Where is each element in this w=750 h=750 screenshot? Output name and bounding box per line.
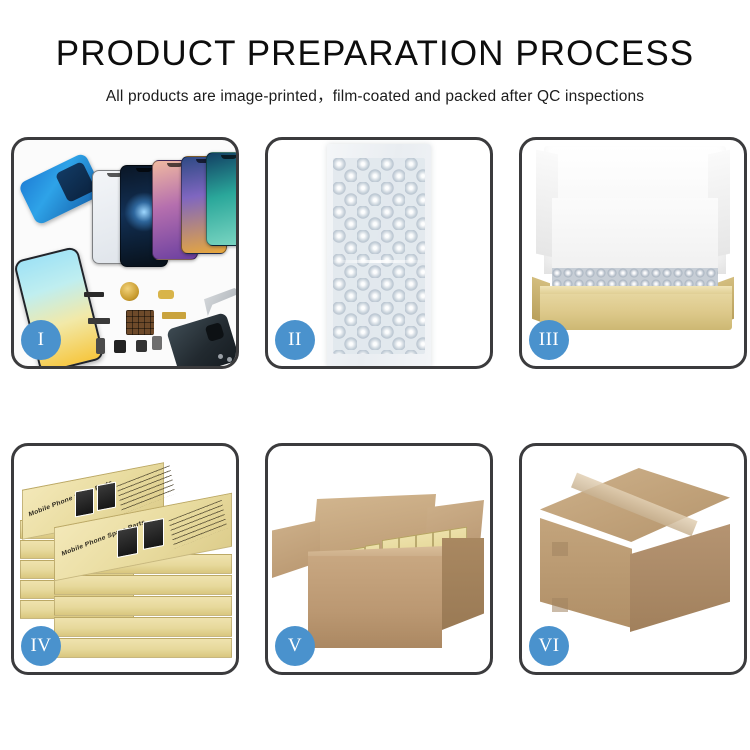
box-label-screen-image — [143, 518, 164, 550]
small-component-part — [96, 338, 105, 354]
product-preparation-infographic: PRODUCT PREPARATION PROCESS All products… — [0, 0, 750, 750]
connector-part — [158, 290, 174, 299]
flex-cable-part — [162, 312, 186, 319]
chip-grid-part — [126, 310, 154, 335]
flex-cable-part — [88, 318, 110, 324]
small-component-part — [114, 340, 126, 353]
foam-sheet — [552, 198, 718, 276]
header: PRODUCT PREPARATION PROCESS All products… — [0, 0, 750, 106]
coil-part-icon — [120, 282, 139, 301]
spare-parts-cluster — [84, 280, 236, 366]
process-step-6: VI — [519, 443, 747, 675]
carton-right-face — [630, 524, 730, 632]
box-label-screen-image — [117, 526, 138, 558]
step-badge-5: V — [275, 626, 315, 666]
box-tray-lip — [540, 286, 732, 294]
page-title: PRODUCT PREPARATION PROCESS — [0, 0, 750, 73]
process-step-5: V — [265, 443, 493, 675]
process-step-1: I — [11, 137, 239, 369]
tape-patch — [552, 542, 568, 556]
process-step-3: III — [519, 137, 747, 369]
process-step-grid: I II II — [11, 137, 743, 675]
small-component-part — [136, 340, 147, 352]
retail-box — [54, 596, 232, 616]
carton-front-face — [308, 556, 442, 648]
process-step-2: II — [265, 137, 493, 369]
flex-cable-part — [84, 292, 104, 297]
page-subtitle: All products are image-printed，film-coat… — [0, 73, 750, 106]
tape-patch — [552, 598, 568, 612]
box-label-screen-image — [97, 482, 116, 512]
tweezers-tool-icon — [204, 288, 236, 316]
bubble-pattern — [333, 158, 425, 354]
retail-box — [54, 575, 232, 595]
phone-screen-teal — [206, 152, 236, 246]
notch — [136, 168, 152, 172]
screws-group — [218, 354, 236, 366]
step-badge-3: III — [529, 320, 569, 360]
small-component-part — [152, 336, 162, 350]
box-tray-front — [540, 290, 732, 330]
phone-screen-fan — [86, 152, 236, 262]
step-badge-4: IV — [21, 626, 61, 666]
step-badge-1: I — [21, 320, 61, 360]
bubble-wrap-pouch — [327, 144, 431, 366]
process-step-4: Mobile Phone Spare Parts Mobile Phone Sp… — [11, 443, 239, 675]
box-label-screen-image — [75, 488, 94, 518]
carton-side-face — [442, 538, 484, 630]
notch — [221, 155, 236, 159]
step-badge-6: VI — [529, 626, 569, 666]
retail-box — [54, 638, 232, 658]
step-badge-2: II — [275, 320, 315, 360]
retail-box — [54, 617, 232, 637]
pouch-seam — [327, 260, 431, 263]
